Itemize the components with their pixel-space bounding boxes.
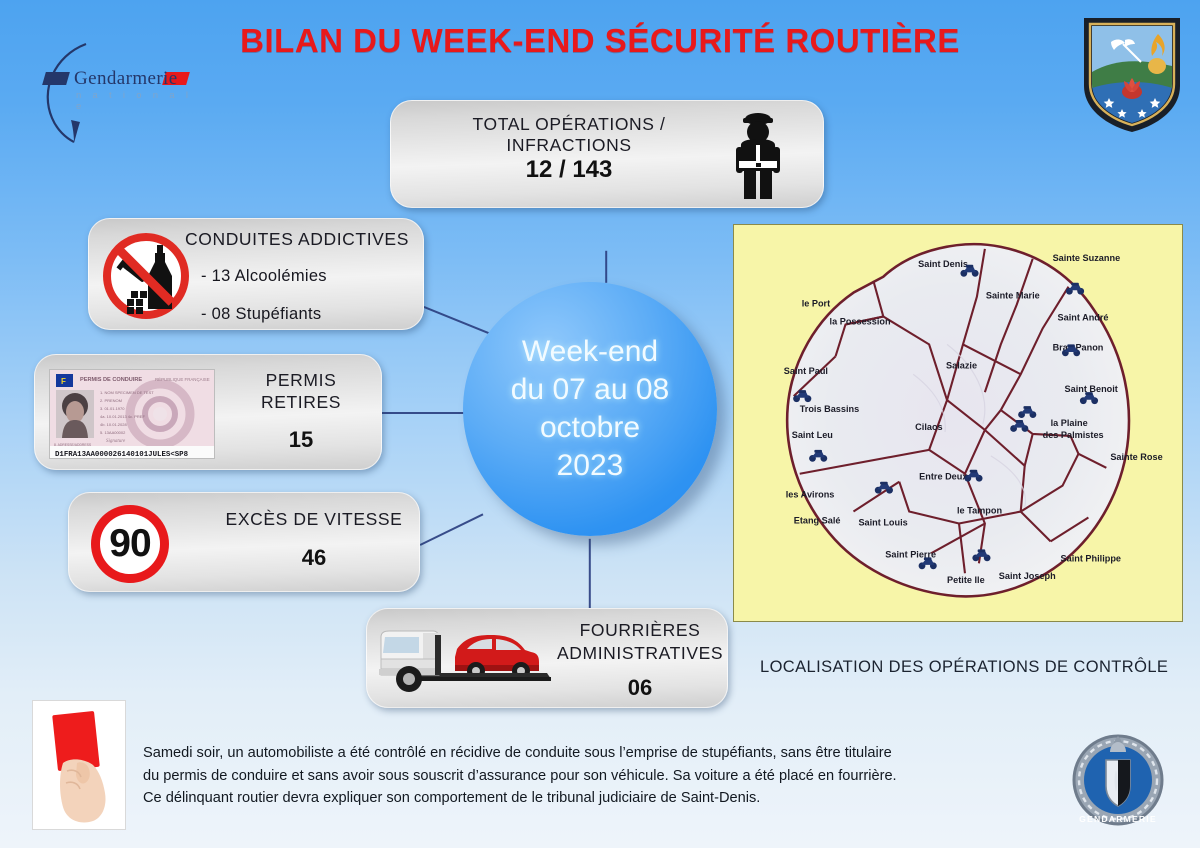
footer-line-3: Ce délinquant routier devra expliquer so… <box>143 790 760 806</box>
map-label-trois-bassins: Trois Bassins <box>800 404 859 414</box>
footer-line-1: Samedi soir, un automobiliste a été cont… <box>143 745 892 761</box>
connector-to-total <box>605 251 607 283</box>
tow-truck-image <box>375 619 551 699</box>
map-label-etang-sale: Etang Salé <box>794 515 841 525</box>
map-label-saint-louis: Saint Louis <box>858 517 907 527</box>
logo-blue-mark <box>42 72 70 85</box>
svg-text:PERMIS DE CONDUIRE: PERMIS DE CONDUIRE <box>80 377 142 383</box>
map-label-la-possession: la Possession <box>830 316 891 326</box>
svg-text:4a. 10.01.2013 4c. PREF: 4a. 10.01.2013 4c. PREF <box>100 414 145 419</box>
map-label-cilaos: Cilaos <box>915 422 942 432</box>
card-tow-label-line1: FOURRIÈRES <box>580 620 701 640</box>
map-label-petite-ile: Petite Ile <box>947 575 985 585</box>
hand-holding-red-card-image <box>32 700 126 830</box>
svg-text:1. NOM SPECIMEN DE TEST: 1. NOM SPECIMEN DE TEST <box>100 390 154 395</box>
card-permis-label-line1: PERMIS <box>266 370 337 390</box>
map-label-saint-paul: Saint Paul <box>784 366 828 376</box>
svg-text:5. 13AA00002: 5. 13AA00002 <box>100 430 126 435</box>
hub-line-3: octobre <box>540 411 640 444</box>
svg-text:D1FRA13AA000026140101JULES<SP8: D1FRA13AA000026140101JULES<SP8 <box>55 451 189 459</box>
map-label-saint-denis: Saint Denis <box>918 259 968 269</box>
gendarmerie-badge-text: GENDARMERIE <box>1079 814 1157 824</box>
map-label-saint-philippe: Saint Philippe <box>1061 553 1121 563</box>
hub-line-1: Week-end <box>522 335 658 368</box>
map-label-le-tampon: le Tampon <box>957 506 1002 516</box>
connector-to-addictive <box>424 306 491 334</box>
infographic-canvas: BILAN DU WEEK-END SÉCURITÉ ROUTIÈRE Gend… <box>0 0 1200 848</box>
map-label-salazie: Salazie <box>946 360 977 370</box>
central-period-badge: Week-end du 07 au 08 octobre 2023 <box>463 282 717 536</box>
hub-line-2: du 07 au 08 <box>511 373 669 406</box>
logo-subtitle: n a t i o n a l e <box>76 90 204 112</box>
map-label-sainte-rose: Sainte Rose <box>1110 452 1162 462</box>
map-label-les-avirons: les Avirons <box>786 490 835 500</box>
map-label-saint-andre: Saint André <box>1058 313 1109 323</box>
card-total-value: 12 / 143 <box>409 156 729 184</box>
map-label-saint-joseph: Saint Joseph <box>999 571 1056 581</box>
card-permis-label-line2: RETIRES <box>261 392 341 412</box>
card-fourrieres-administratives[interactable]: FOURRIÈRES ADMINISTRATIVES 06 <box>366 608 728 708</box>
card-tow-label-line2: ADMINISTRATIVES <box>557 643 723 663</box>
svg-text:Signature: Signature <box>106 439 126 444</box>
svg-text:F: F <box>61 377 66 386</box>
hub-line-4: 2023 <box>557 449 624 482</box>
hub-text: Week-end du 07 au 08 octobre 2023 <box>497 333 683 484</box>
card-permis-retires[interactable]: F PERMIS DE CONDUIRE RÉPUBLIQUE FRANÇAIS… <box>34 354 382 470</box>
driving-licence-image: F PERMIS DE CONDUIRE RÉPUBLIQUE FRANÇAIS… <box>49 369 215 459</box>
card-permis-label: PERMIS RETIRES <box>231 369 371 414</box>
map-label-saint-leu: Saint Leu <box>792 430 833 440</box>
card-speed-value: 46 <box>219 545 409 571</box>
card-total-operations[interactable]: TOTAL OPÉRATIONS / INFRACTIONS 12 / 143 <box>390 100 824 208</box>
card-tow-label: FOURRIÈRES ADMINISTRATIVES <box>557 619 723 665</box>
gendarmerie-nationale-logo: Gendarmerie n a t i o n a l e <box>24 42 204 147</box>
card-exces-de-vitesse[interactable]: 90 EXCÈS DE VITESSE 46 <box>68 492 420 592</box>
gendarmerie-badge-icon: GENDARMERIE <box>1066 724 1170 828</box>
map-label-sainte-suzanne: Sainte Suzanne <box>1053 253 1121 263</box>
card-permis-value: 15 <box>231 427 371 453</box>
card-tow-value: 06 <box>557 675 723 701</box>
card-total-label: TOTAL OPÉRATIONS / INFRACTIONS <box>409 114 729 156</box>
map-label-entre-deux: Entre Deux <box>919 472 968 482</box>
footer-line-2: du permis de conduire et sans avoir sous… <box>143 768 897 784</box>
footer-summary-text: Samedi soir, un automobiliste a été cont… <box>143 742 1043 810</box>
map-label-plaine-2: des Palmistes <box>1043 430 1104 440</box>
card-addictive-item-drugs: - 08 Stupéfiants <box>201 305 321 324</box>
map-label-sainte-marie: Sainte Marie <box>986 291 1040 301</box>
map-label-le-port: le Port <box>802 299 830 309</box>
map-label-plaine-1: la Plaine <box>1051 418 1088 428</box>
svg-text:4b. 10.01.2028: 4b. 10.01.2028 <box>100 422 127 427</box>
connector-to-permis <box>382 412 466 414</box>
svg-text:3. 01.01.1970: 3. 01.01.1970 <box>100 406 125 411</box>
card-addictive-label: CONDUITES ADDICTIVES <box>177 229 417 250</box>
card-conduites-addictives[interactable]: CONDUITES ADDICTIVES - 13 Alcoolémies - … <box>88 218 424 330</box>
speed-limit-sign-icon: 90 <box>91 505 169 583</box>
reunion-coat-of-arms-icon <box>1078 14 1186 134</box>
connector-to-tow <box>589 539 591 611</box>
svg-text:RÉPUBLIQUE FRANÇAISE: RÉPUBLIQUE FRANÇAISE <box>155 377 210 382</box>
map-reunion-island[interactable]: Saint Denis Sainte Suzanne Sainte Marie … <box>733 224 1183 622</box>
logo-wordmark: Gendarmerie <box>74 68 178 90</box>
card-addictive-item-alcohol: - 13 Alcoolémies <box>201 267 327 286</box>
connector-to-speed <box>420 513 484 545</box>
svg-text:2. PRENOM: 2. PRENOM <box>100 398 122 403</box>
card-speed-label: EXCÈS DE VITESSE <box>219 509 409 530</box>
map-caption: LOCALISATION DES OPÉRATIONS DE CONTRÔLE <box>760 658 1190 677</box>
gendarme-icon <box>715 109 801 201</box>
